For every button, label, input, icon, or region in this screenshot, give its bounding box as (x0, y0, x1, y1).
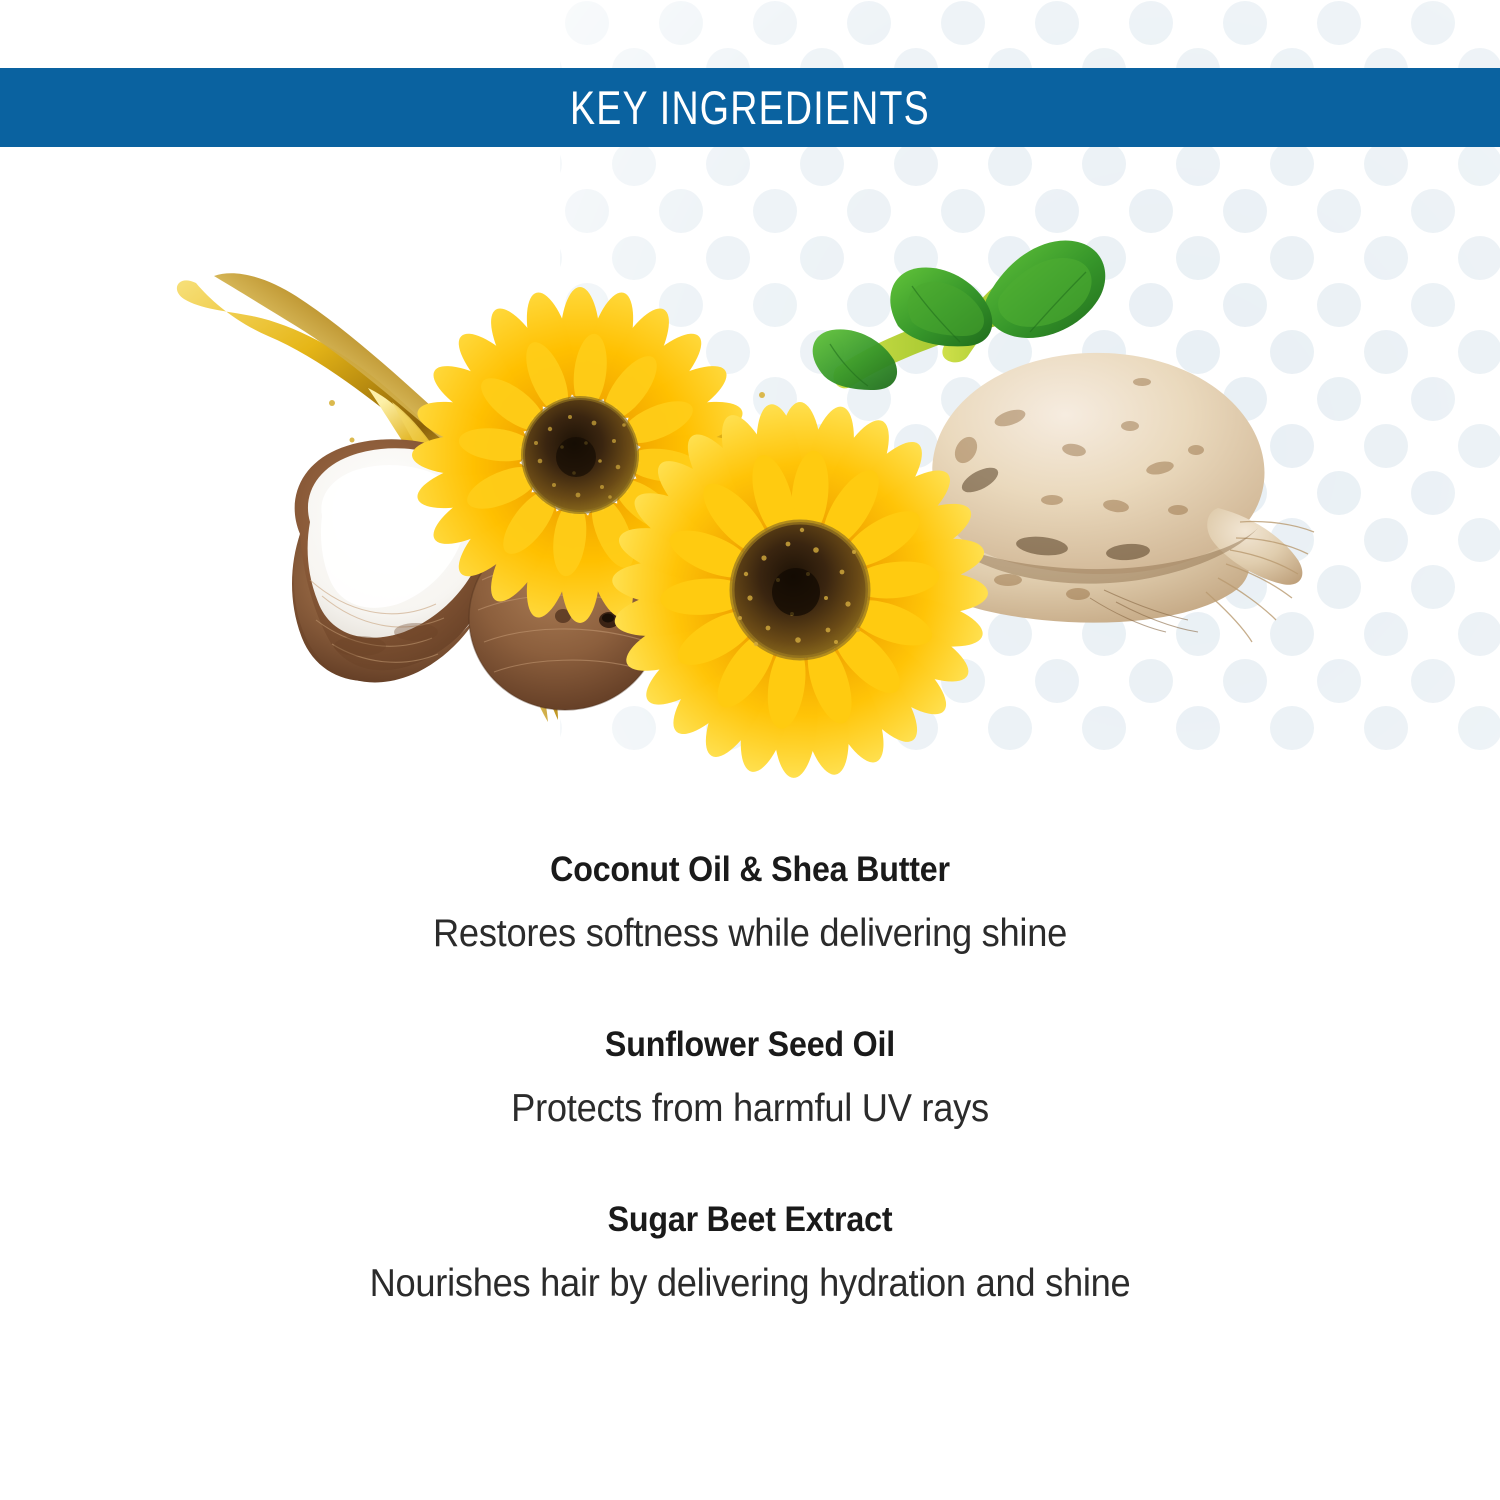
ingredients-list: Coconut Oil & Shea Butter Restores softn… (0, 850, 1500, 1307)
header-band: KEY INGREDIENTS (0, 68, 1500, 147)
ingredient-name: Coconut Oil & Shea Butter (60, 850, 1440, 890)
ingredient-item: Coconut Oil & Shea Butter Restores softn… (0, 850, 1500, 957)
ingredient-item: Sunflower Seed Oil Protects from harmful… (0, 1025, 1500, 1132)
ingredient-description: Restores softness while delivering shine (53, 912, 1448, 957)
ingredient-item: Sugar Beet Extract Nourishes hair by del… (0, 1200, 1500, 1307)
page-title: KEY INGREDIENTS (570, 80, 930, 135)
ingredient-name: Sugar Beet Extract (60, 1200, 1440, 1240)
ingredient-name: Sunflower Seed Oil (60, 1025, 1440, 1065)
hero-ingredients-image (0, 150, 1500, 830)
ingredient-description: Nourishes hair by delivering hydration a… (53, 1262, 1448, 1307)
ingredient-description: Protects from harmful UV rays (53, 1087, 1448, 1132)
